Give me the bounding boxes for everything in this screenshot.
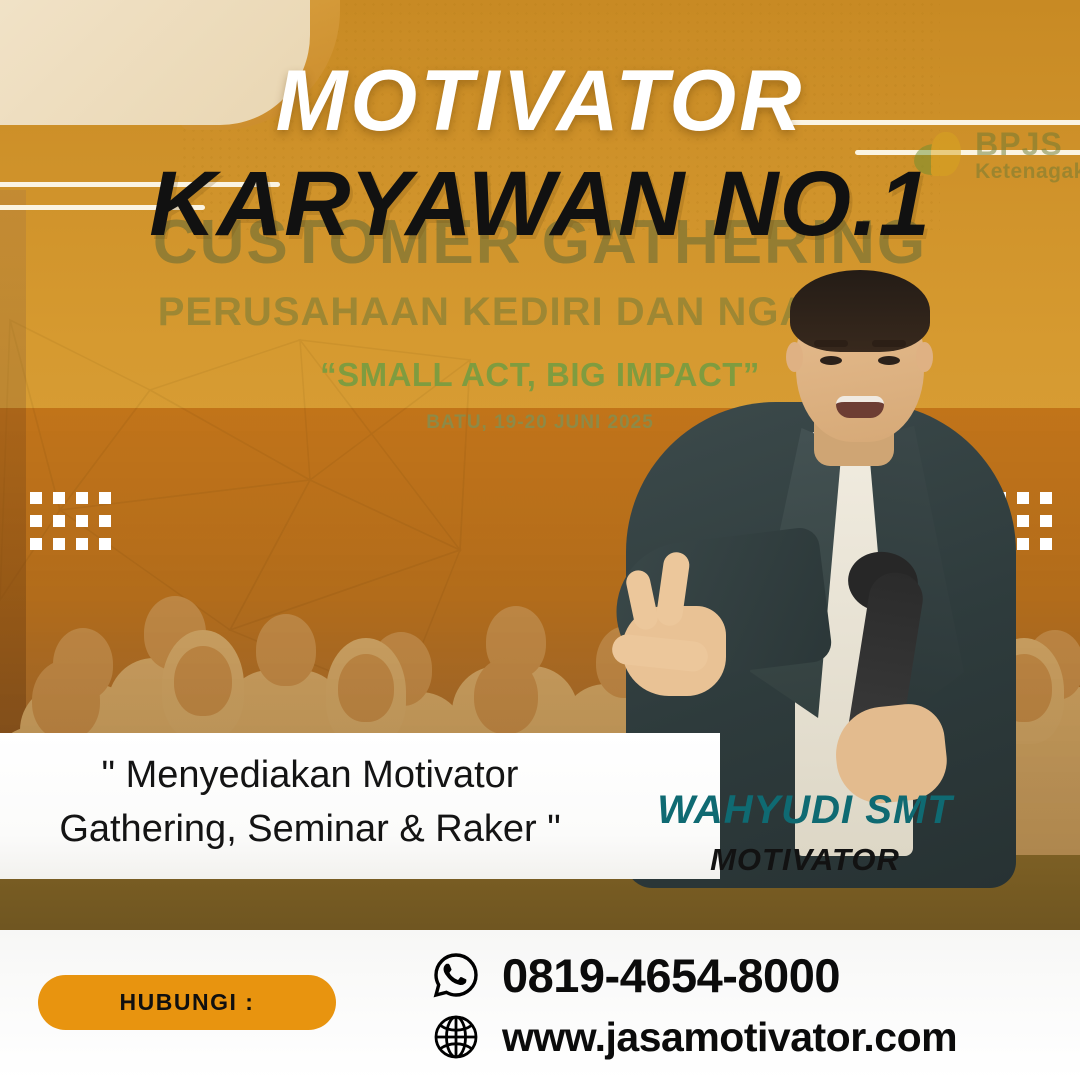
hubungi-label: HUBUNGI :	[120, 989, 255, 1016]
speaker-ear-right	[916, 342, 933, 372]
speaker-name: WAHYUDI SMT	[610, 790, 1000, 830]
speaker-gesturing-hand	[608, 552, 744, 702]
speaker-role: MOTIVATOR	[610, 844, 1000, 875]
poster-headline: MOTIVATOR KARYAWAN NO.1	[0, 58, 1080, 250]
phone-number: 0819-4654-8000	[502, 948, 840, 1003]
speaker-mouth	[836, 396, 884, 418]
speaker-hair	[790, 270, 930, 352]
dot-grid-decoration-left	[30, 492, 111, 550]
speaker-eyebrow-left	[814, 340, 848, 347]
headline-line-2: KARYAWAN NO.1	[0, 158, 1080, 250]
speaker-name-block: WAHYUDI SMT MOTIVATOR	[610, 790, 1000, 875]
hubungi-cta-button[interactable]: HUBUNGI :	[38, 975, 336, 1030]
contact-website-row[interactable]: www.jasamotivator.com	[432, 1006, 957, 1068]
headline-line-1: MOTIVATOR	[0, 58, 1080, 144]
contact-phone-row[interactable]: 0819-4654-8000	[432, 944, 957, 1006]
speaker-eyebrow-right	[872, 340, 906, 347]
globe-icon	[432, 1013, 480, 1061]
speaker-eye-right	[878, 356, 900, 365]
website-url: www.jasamotivator.com	[502, 1014, 957, 1061]
promotional-poster: CUSTOMER GATHERING PERUSAHAAN KEDIRI DAN…	[0, 0, 1080, 1080]
contact-details: 0819-4654-8000 www.jasamotivator.com	[432, 944, 957, 1068]
whatsapp-icon	[432, 951, 480, 999]
quote-line-1: " Menyediakan Motivator	[0, 749, 620, 803]
speaker-ear-left	[786, 342, 803, 372]
quote-line-2: Gathering, Seminar & Raker "	[0, 803, 620, 857]
speaker-eye-left	[820, 356, 842, 365]
